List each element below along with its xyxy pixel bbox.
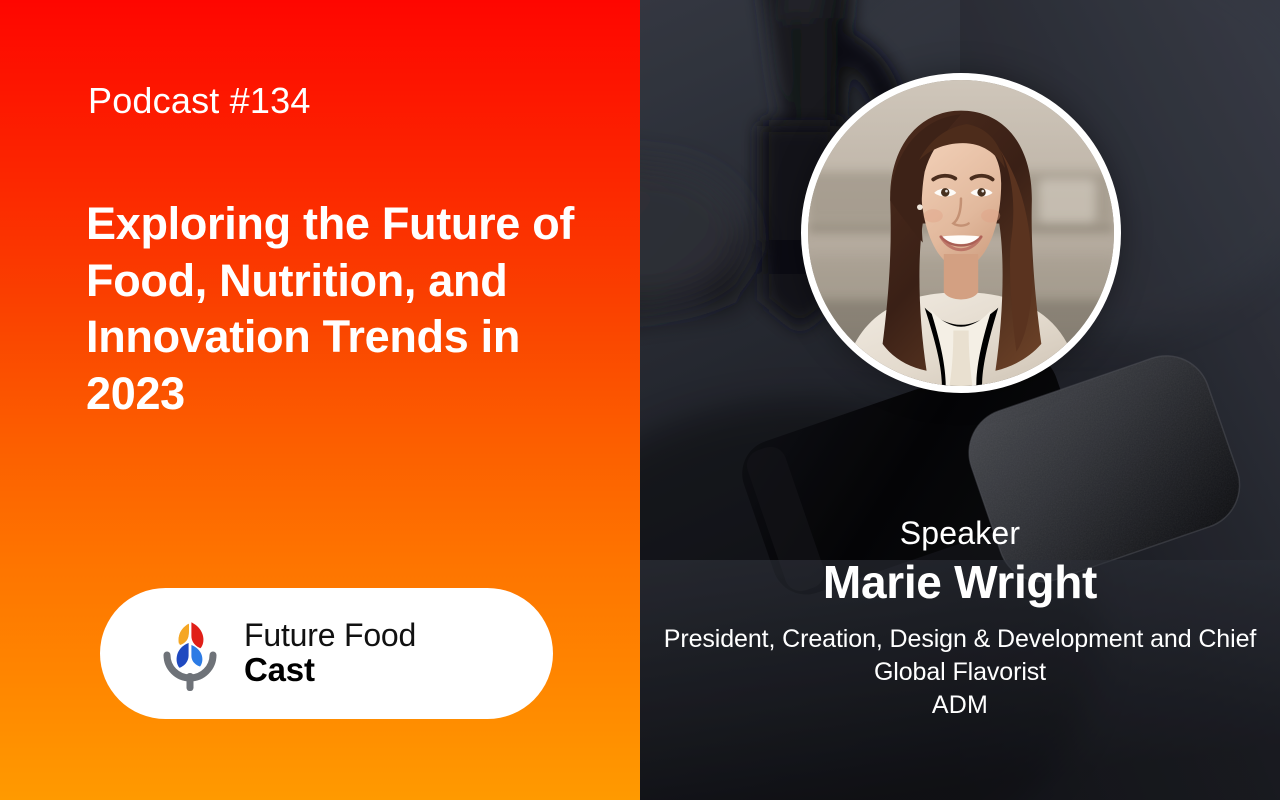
speaker-name: Marie Wright: [640, 555, 1280, 610]
future-food-cast-badge[interactable]: Future Food Cast: [100, 588, 553, 719]
podcast-promo-card: Podcast #134 Exploring the Future of Foo…: [0, 0, 1280, 800]
badge-line-cast: Cast: [244, 653, 416, 688]
speaker-organization: ADM: [640, 689, 1280, 722]
badge-text-group: Future Food Cast: [244, 619, 416, 688]
episode-label: Podcast #134: [88, 83, 311, 119]
page-title: Exploring the Future of Food, Nutrition,…: [86, 196, 606, 423]
avatar: [801, 73, 1121, 393]
speaker-info-block: Speaker Marie Wright President, Creation…: [640, 515, 1280, 722]
left-gradient-panel: Podcast #134 Exploring the Future of Foo…: [0, 0, 640, 800]
speaker-kicker: Speaker: [640, 515, 1280, 551]
right-photo-panel: Speaker Marie Wright President, Creation…: [640, 0, 1280, 800]
speaker-role: President, Creation, Design & Developmen…: [640, 623, 1280, 689]
microphone-flower-logo-icon: [162, 615, 218, 693]
badge-line-future-food: Future Food: [244, 619, 416, 653]
